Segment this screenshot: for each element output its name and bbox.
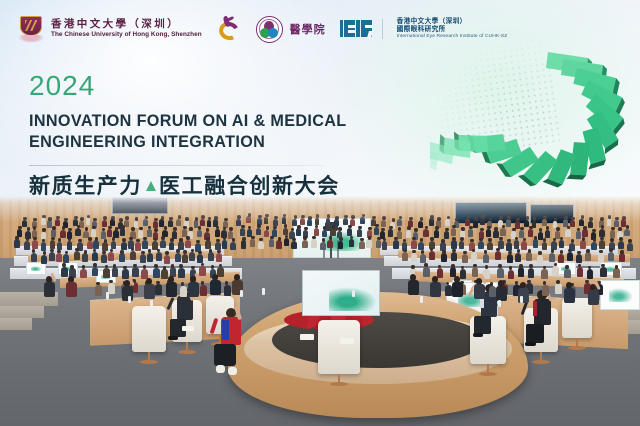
audience-member — [92, 267, 99, 277]
audience-member — [577, 267, 584, 277]
logo-medical-school: 醫學院 — [256, 16, 326, 43]
audience-member — [366, 239, 372, 247]
audience-member — [451, 252, 457, 261]
audience-member — [429, 251, 435, 260]
desk-prop — [420, 296, 423, 303]
desk-prop — [182, 326, 194, 331]
vip-torso — [166, 282, 177, 297]
audience-member — [382, 241, 388, 250]
desk-prop — [352, 290, 355, 297]
audience-member — [132, 267, 139, 277]
ieri-en-line: International Eye Research Institute of … — [397, 34, 508, 40]
audience-member — [610, 230, 615, 238]
event-title-cn-part2: 医工融合创新大会 — [159, 175, 340, 198]
vip-seated — [492, 280, 510, 306]
audience-member — [518, 267, 525, 277]
audience-member — [472, 267, 479, 277]
audience-member — [246, 216, 251, 223]
audience-member — [22, 220, 27, 227]
audience-member — [140, 254, 146, 263]
vip-torso — [66, 282, 77, 297]
desk-prop — [240, 290, 243, 297]
event-title-cn: 新质生产力 医工融合创新大会 — [29, 175, 359, 198]
audience-member — [121, 242, 127, 251]
vip-torso — [564, 288, 575, 303]
vip-torso — [188, 282, 199, 297]
desk-prop — [106, 292, 109, 299]
vip-seated — [470, 278, 488, 304]
audience-member — [95, 285, 102, 296]
audience-member — [250, 239, 256, 247]
vip-seated — [206, 274, 224, 300]
audience-member — [315, 218, 320, 225]
audience-member — [153, 221, 158, 228]
audience-member — [462, 254, 468, 263]
audience-member — [451, 228, 456, 236]
vip-seated — [560, 282, 578, 308]
audience-member — [549, 253, 555, 262]
audience-member — [598, 253, 604, 262]
audience-member — [349, 239, 355, 247]
vip-seated — [140, 278, 158, 304]
audience-member — [189, 252, 195, 261]
audience-member — [160, 240, 166, 249]
vip-seated — [426, 276, 444, 302]
audience-member — [587, 269, 594, 279]
audience-member — [600, 267, 607, 277]
audience-member — [314, 228, 319, 236]
vip-torso — [588, 290, 599, 305]
audience-member — [423, 229, 428, 237]
audience-member — [120, 228, 125, 236]
phoenix-emblem-icon — [216, 16, 242, 42]
audience-member — [169, 242, 175, 251]
audience-member — [276, 240, 282, 248]
ieri-divider — [382, 19, 383, 39]
podium-display-right-2 — [600, 280, 640, 310]
audience-member — [558, 254, 564, 263]
audience-member — [493, 230, 498, 238]
audience-member — [241, 240, 247, 248]
vip-seated — [40, 276, 58, 302]
audience-member — [618, 241, 624, 250]
audience-member — [471, 252, 477, 261]
green-spiral-domino-ribbon-icon — [430, 42, 640, 227]
audience-member — [542, 242, 548, 251]
audience-member — [311, 239, 317, 247]
logo-bar: 香港中文大學（深圳） The Chinese University of Hon… — [0, 0, 640, 58]
audience-member — [526, 252, 532, 261]
audience-member — [441, 253, 447, 262]
audience-member — [135, 242, 141, 251]
audience-member — [164, 255, 170, 264]
desk-prop — [128, 296, 131, 303]
audience-member — [302, 240, 308, 248]
audience-member — [86, 218, 91, 225]
audience-member — [82, 253, 88, 262]
audience-member — [197, 254, 203, 263]
event-title-en-line1: INNOVATION FORUM ON AI & MEDICAL — [29, 111, 359, 132]
audience-member — [102, 220, 107, 227]
audience-member — [284, 238, 290, 246]
desk-prop — [340, 338, 354, 344]
audience-member — [599, 229, 604, 237]
audience-member — [185, 240, 191, 249]
audience-member — [107, 229, 112, 237]
audience-member — [67, 241, 73, 250]
audience-member — [142, 240, 148, 249]
audience-member — [508, 270, 515, 280]
audience-member — [388, 229, 393, 237]
vip-torso — [144, 284, 155, 299]
audience-member — [57, 242, 63, 251]
cuhk-en-name: The Chinese University of Hong Kong, She… — [51, 32, 202, 39]
table-monitor — [302, 270, 380, 316]
audience-member — [537, 255, 543, 264]
vip-seated — [118, 280, 136, 306]
audience-member — [41, 255, 47, 264]
desk-name-card-left — [26, 262, 46, 275]
audience-member — [343, 218, 348, 225]
audience-member — [495, 251, 501, 260]
stairs-left-3 — [0, 318, 32, 330]
audience-member — [273, 219, 278, 226]
ieri-cn-line2: 國際眼科研究所 — [397, 26, 508, 34]
audience-member — [130, 251, 136, 260]
audience-member — [459, 241, 465, 250]
audience-member — [74, 251, 80, 260]
medical-school-cn-name: 醫學院 — [290, 21, 326, 37]
audience-member — [256, 228, 261, 236]
audience-member — [468, 229, 473, 237]
audience-member — [486, 229, 491, 237]
vip-seated — [228, 274, 246, 300]
audience-member — [497, 268, 504, 278]
audience-member — [533, 239, 539, 248]
audience-member — [197, 230, 202, 238]
audience-member — [564, 269, 571, 279]
desk-prop — [498, 300, 501, 307]
audience-member — [216, 253, 222, 262]
vip-seated — [184, 276, 202, 302]
audience-member — [393, 240, 399, 249]
audience-member — [168, 220, 173, 227]
audience-member — [322, 230, 327, 238]
audience-member — [338, 241, 344, 249]
audience-member — [397, 219, 402, 226]
audience-member — [49, 252, 55, 261]
audience-member — [627, 243, 633, 252]
vip-torso — [430, 282, 441, 297]
stairs-left-2 — [0, 306, 44, 318]
audience-member — [143, 219, 148, 226]
audience-member — [376, 240, 382, 248]
audience-member — [434, 230, 439, 238]
audience-member — [613, 268, 620, 278]
audience-member — [31, 253, 37, 262]
audience-member — [521, 241, 527, 250]
audience-member — [269, 239, 275, 247]
audience-member — [291, 241, 297, 249]
audience-member — [320, 242, 326, 250]
foreground-chair-4 — [318, 320, 360, 374]
audience-member — [528, 229, 533, 237]
audience-member — [102, 242, 108, 251]
foreground-chair-1 — [132, 306, 166, 352]
vip-front-center-woman-red — [216, 308, 246, 380]
audience-member — [420, 254, 426, 263]
audience-member — [80, 269, 87, 279]
audience-member — [230, 242, 236, 251]
audience-member — [63, 254, 69, 263]
audience-member — [282, 217, 287, 224]
audience-member — [542, 285, 549, 296]
audience-member — [200, 219, 205, 226]
audience-member — [381, 220, 386, 227]
audience-member — [205, 240, 211, 249]
cuhk-cn-name: 香港中文大學（深圳） — [51, 19, 202, 30]
audience-member — [103, 268, 110, 278]
desk-prop — [374, 292, 377, 299]
audience-member — [307, 219, 312, 226]
audience-member — [222, 240, 228, 249]
event-title-cn-part1: 新质生产力 — [29, 175, 142, 198]
audience-member — [147, 229, 152, 237]
audience-member — [507, 254, 513, 263]
audience-member — [153, 268, 160, 278]
audience-member — [608, 252, 614, 261]
audience-member — [296, 228, 301, 236]
desk-prop — [150, 300, 153, 307]
audience-member — [156, 252, 162, 261]
audience-member — [60, 230, 65, 238]
audience-member — [101, 231, 106, 239]
event-year: 2024 — [29, 72, 359, 100]
audience-member — [75, 228, 80, 236]
audience-member — [411, 240, 417, 249]
audience-member — [176, 219, 181, 226]
audience-member — [580, 240, 586, 249]
vip-seated — [514, 282, 532, 308]
audience-member — [514, 240, 520, 249]
conference-hall-group-photo — [0, 196, 640, 426]
audience-member — [374, 227, 379, 235]
audience-member — [108, 252, 114, 261]
audience-member — [360, 217, 365, 224]
audience-member — [418, 221, 423, 228]
vip-seated — [584, 284, 602, 310]
audience-member — [50, 240, 56, 249]
audience-member — [32, 240, 38, 249]
audience-member — [541, 269, 548, 279]
audience-member — [327, 240, 333, 248]
audience-member — [147, 253, 153, 262]
vip-torso — [474, 284, 485, 299]
audience-member — [56, 253, 62, 262]
audience-member — [264, 230, 269, 238]
audience-member — [559, 240, 565, 249]
audience-member — [14, 239, 20, 248]
audience-member — [175, 253, 181, 262]
audience-member — [182, 254, 188, 263]
audience-member — [519, 230, 524, 238]
audience-member — [87, 241, 93, 250]
audience-member — [478, 241, 484, 250]
desk-prop — [262, 288, 265, 295]
audience-member — [444, 231, 449, 239]
audience-member — [112, 267, 119, 277]
audience-member — [91, 229, 96, 237]
audience-member — [500, 228, 505, 236]
vip-torso — [496, 286, 507, 301]
audience-member — [576, 254, 582, 263]
vip-seated — [162, 276, 180, 302]
audience-member — [411, 253, 417, 262]
audience-member — [487, 242, 493, 251]
vip-torso — [210, 280, 221, 295]
audience-member — [402, 252, 408, 261]
title-block: 2024 INNOVATION FORUM ON AI & MEDICAL EN… — [29, 72, 359, 198]
title-divider — [29, 165, 325, 166]
audience-member — [119, 253, 125, 262]
audience-member — [326, 218, 331, 225]
audience-member — [92, 252, 98, 261]
audience-member — [124, 220, 129, 227]
medical-school-badge-icon — [256, 16, 283, 43]
audience-member — [300, 218, 305, 225]
audience-member — [207, 220, 212, 227]
audience-member — [406, 230, 411, 238]
audience-member — [55, 219, 60, 226]
audience-member — [591, 242, 597, 251]
audience-member — [506, 242, 512, 251]
audience-member — [545, 230, 550, 238]
audience-member — [330, 229, 335, 237]
ieri-cn-line1: 香港中文大學（深圳） — [397, 18, 508, 26]
audience-member — [565, 229, 570, 237]
audience-member — [624, 229, 629, 237]
audience-member — [619, 253, 625, 262]
audience-member — [483, 254, 489, 263]
audience-member — [552, 266, 559, 276]
cuhk-shield-icon — [18, 15, 44, 43]
audience-member — [215, 229, 220, 237]
audience-member — [258, 241, 264, 249]
logo-phoenix — [216, 16, 242, 42]
audience-member — [576, 231, 581, 239]
audience-member — [199, 266, 206, 276]
audience-member — [567, 252, 573, 261]
audience-member — [359, 241, 365, 249]
event-title-en-line2: ENGINEERING INTEGRATION — [29, 132, 359, 153]
audience-member — [515, 253, 521, 262]
vip-seated — [448, 276, 466, 302]
audience-member — [357, 229, 362, 237]
vip-torso — [408, 280, 419, 295]
logo-ieri: 香港中文大學（深圳） 國際眼科研究所 International Eye Res… — [340, 18, 508, 40]
audience-member — [41, 218, 46, 225]
audience-member — [528, 268, 535, 278]
audience-member — [347, 228, 352, 236]
audience-member — [208, 252, 214, 261]
event-poster: 香港中文大學（深圳） The Chinese University of Hon… — [0, 0, 640, 426]
audience-member — [108, 283, 115, 294]
vip-front-right-man-2 — [528, 290, 556, 352]
audience-member — [101, 254, 107, 263]
green-triangle-icon — [146, 181, 156, 191]
vip-torso — [452, 282, 463, 297]
audience-member — [93, 240, 99, 249]
audience-member — [599, 240, 605, 249]
wall-display-left — [112, 197, 168, 214]
audience-member — [236, 219, 241, 226]
logo-cuhk-shenzhen: 香港中文大學（深圳） The Chinese University of Hon… — [18, 15, 202, 43]
audience-member — [451, 240, 457, 249]
audience-member — [41, 242, 47, 251]
desk-prop — [300, 334, 314, 340]
audience-member — [585, 252, 591, 261]
audience-member — [418, 242, 424, 251]
audience-member — [292, 219, 297, 226]
table-name-card-1 — [26, 196, 28, 198]
ieri-wordmark-icon — [340, 20, 372, 37]
vip-seated — [62, 276, 80, 302]
audience-member — [24, 241, 30, 250]
vip-torso — [44, 282, 55, 297]
desk-prop — [520, 296, 523, 303]
audience-member — [240, 228, 245, 236]
audience-member — [264, 217, 269, 224]
